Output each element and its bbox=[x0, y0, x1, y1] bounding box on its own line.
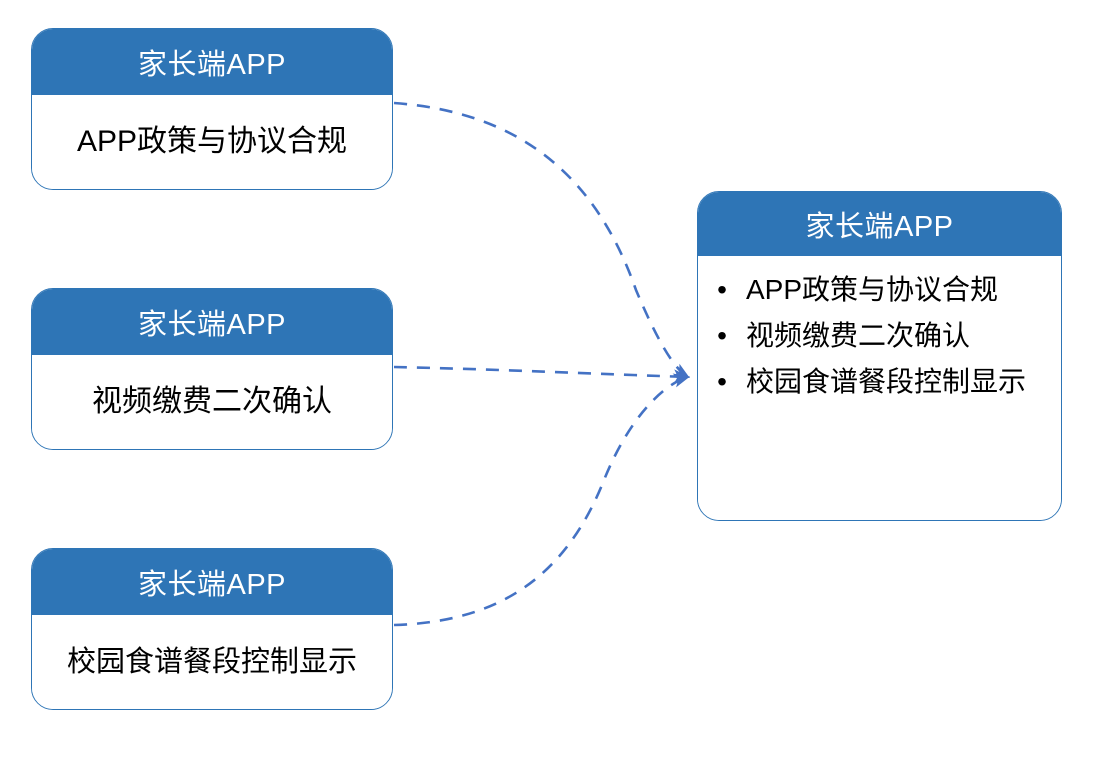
list-item: • 视频缴费二次确认 bbox=[698, 316, 1051, 356]
connector-from-card-1 bbox=[394, 103, 688, 377]
source-card-campus-menu[interactable]: 家长端APP 校园食谱餐段控制显示 bbox=[31, 548, 393, 710]
target-card-header: 家长端APP bbox=[698, 192, 1061, 256]
source-card-app-policy[interactable]: 家长端APP APP政策与协议合规 bbox=[31, 28, 393, 190]
source-card-3-body: 校园食谱餐段控制显示 bbox=[32, 615, 392, 709]
bullet-label: APP政策与协议合规 bbox=[746, 270, 1051, 310]
bullet-icon: • bbox=[698, 316, 746, 356]
bullet-label: 视频缴费二次确认 bbox=[746, 316, 1051, 356]
list-item: • 校园食谱餐段控制显示 bbox=[698, 362, 1051, 402]
source-card-1-header: 家长端APP bbox=[32, 29, 392, 95]
connector-from-card-3 bbox=[394, 377, 688, 625]
target-card-body: • APP政策与协议合规 • 视频缴费二次确认 • 校园食谱餐段控制显示 bbox=[698, 256, 1061, 520]
target-bullet-list: • APP政策与协议合规 • 视频缴费二次确认 • 校园食谱餐段控制显示 bbox=[698, 270, 1051, 401]
source-card-1-body: APP政策与协议合规 bbox=[32, 95, 392, 189]
source-card-3-header: 家长端APP bbox=[32, 549, 392, 615]
source-card-2-header: 家长端APP bbox=[32, 289, 392, 355]
bullet-label: 校园食谱餐段控制显示 bbox=[746, 362, 1051, 402]
bullet-icon: • bbox=[698, 270, 746, 310]
bullet-icon: • bbox=[698, 362, 746, 402]
list-item: • APP政策与协议合规 bbox=[698, 270, 1051, 310]
target-card-summary[interactable]: 家长端APP • APP政策与协议合规 • 视频缴费二次确认 • 校园食谱餐段控… bbox=[697, 191, 1062, 521]
source-card-2-body: 视频缴费二次确认 bbox=[32, 355, 392, 449]
diagram-canvas: 家长端APP APP政策与协议合规 家长端APP 视频缴费二次确认 家长端APP… bbox=[0, 0, 1108, 764]
connector-from-card-2 bbox=[394, 367, 688, 377]
source-card-video-payment[interactable]: 家长端APP 视频缴费二次确认 bbox=[31, 288, 393, 450]
